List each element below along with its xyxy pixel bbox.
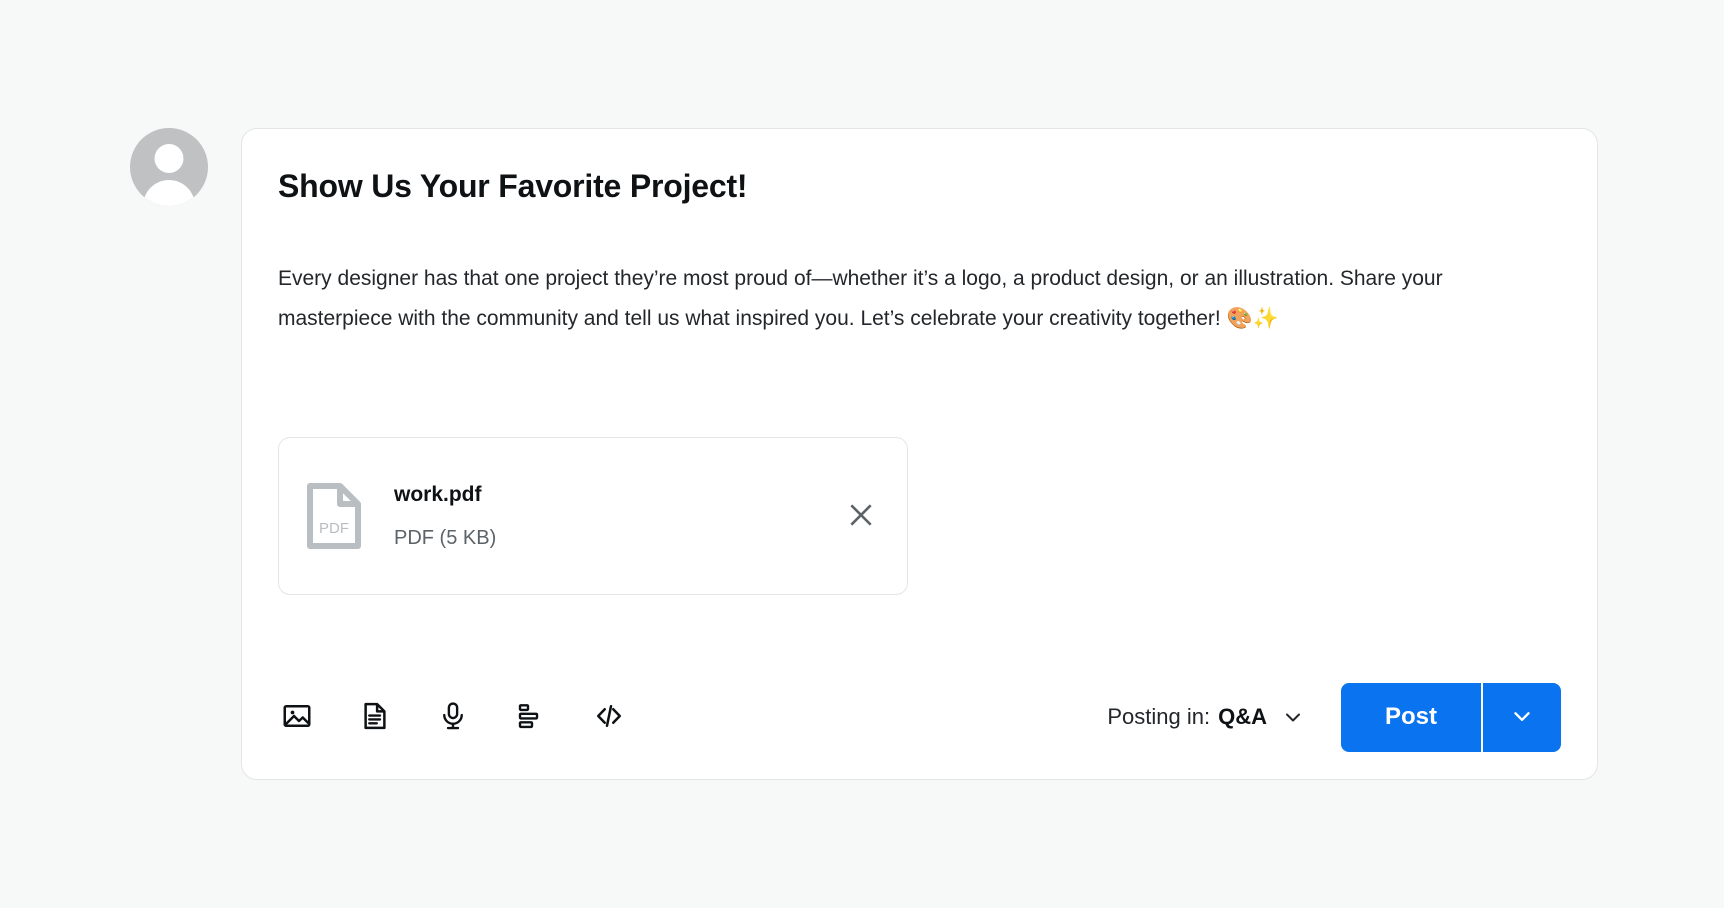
posting-in-label: Posting in: <box>1107 704 1210 730</box>
posting-in-selector[interactable]: Posting in: Q&A <box>1107 704 1305 730</box>
add-document-button[interactable] <box>360 702 390 732</box>
poll-icon <box>516 701 546 734</box>
code-icon <box>594 701 624 734</box>
image-icon <box>282 701 312 734</box>
post-split-button: Post <box>1341 683 1561 752</box>
post-composer-card: Show Us Your Favorite Project! Every des… <box>241 128 1598 780</box>
composer-actions: Posting in: Q&A Post <box>1107 683 1561 752</box>
remove-attachment-button[interactable] <box>841 496 881 536</box>
close-icon <box>846 500 876 533</box>
add-poll-button[interactable] <box>516 702 546 732</box>
attachment-card[interactable]: PDF work.pdf PDF (5 KB) <box>278 437 908 595</box>
palette-sparkles-emoji: 🎨✨ <box>1227 307 1279 330</box>
add-image-button[interactable] <box>282 702 312 732</box>
post-button[interactable]: Post <box>1341 683 1481 752</box>
post-composer-screen: Show Us Your Favorite Project! Every des… <box>0 0 1724 908</box>
add-code-button[interactable] <box>594 702 624 732</box>
svg-text:PDF: PDF <box>319 520 349 537</box>
record-audio-button[interactable] <box>438 702 468 732</box>
microphone-icon <box>438 701 468 734</box>
post-body-text[interactable]: Every designer has that one project they… <box>278 259 1561 339</box>
avatar-body-shape <box>143 180 195 206</box>
chevron-down-icon <box>1509 703 1535 732</box>
avatar-head-shape <box>155 144 184 173</box>
posting-in-value: Q&A <box>1218 704 1267 730</box>
document-icon <box>360 701 390 734</box>
attachment-file-meta: PDF (5 KB) <box>394 526 841 550</box>
avatar[interactable] <box>130 128 208 206</box>
composer-footer: Posting in: Q&A Post <box>278 685 1561 749</box>
chevron-down-icon <box>1281 705 1305 729</box>
attachment-details: work.pdf PDF (5 KB) <box>394 482 841 550</box>
page-title[interactable]: Show Us Your Favorite Project! <box>278 167 1561 205</box>
attachment-file-name: work.pdf <box>394 482 841 507</box>
post-options-button[interactable] <box>1483 683 1561 752</box>
composer-toolbar <box>278 702 624 732</box>
pdf-file-icon: PDF <box>307 483 361 549</box>
